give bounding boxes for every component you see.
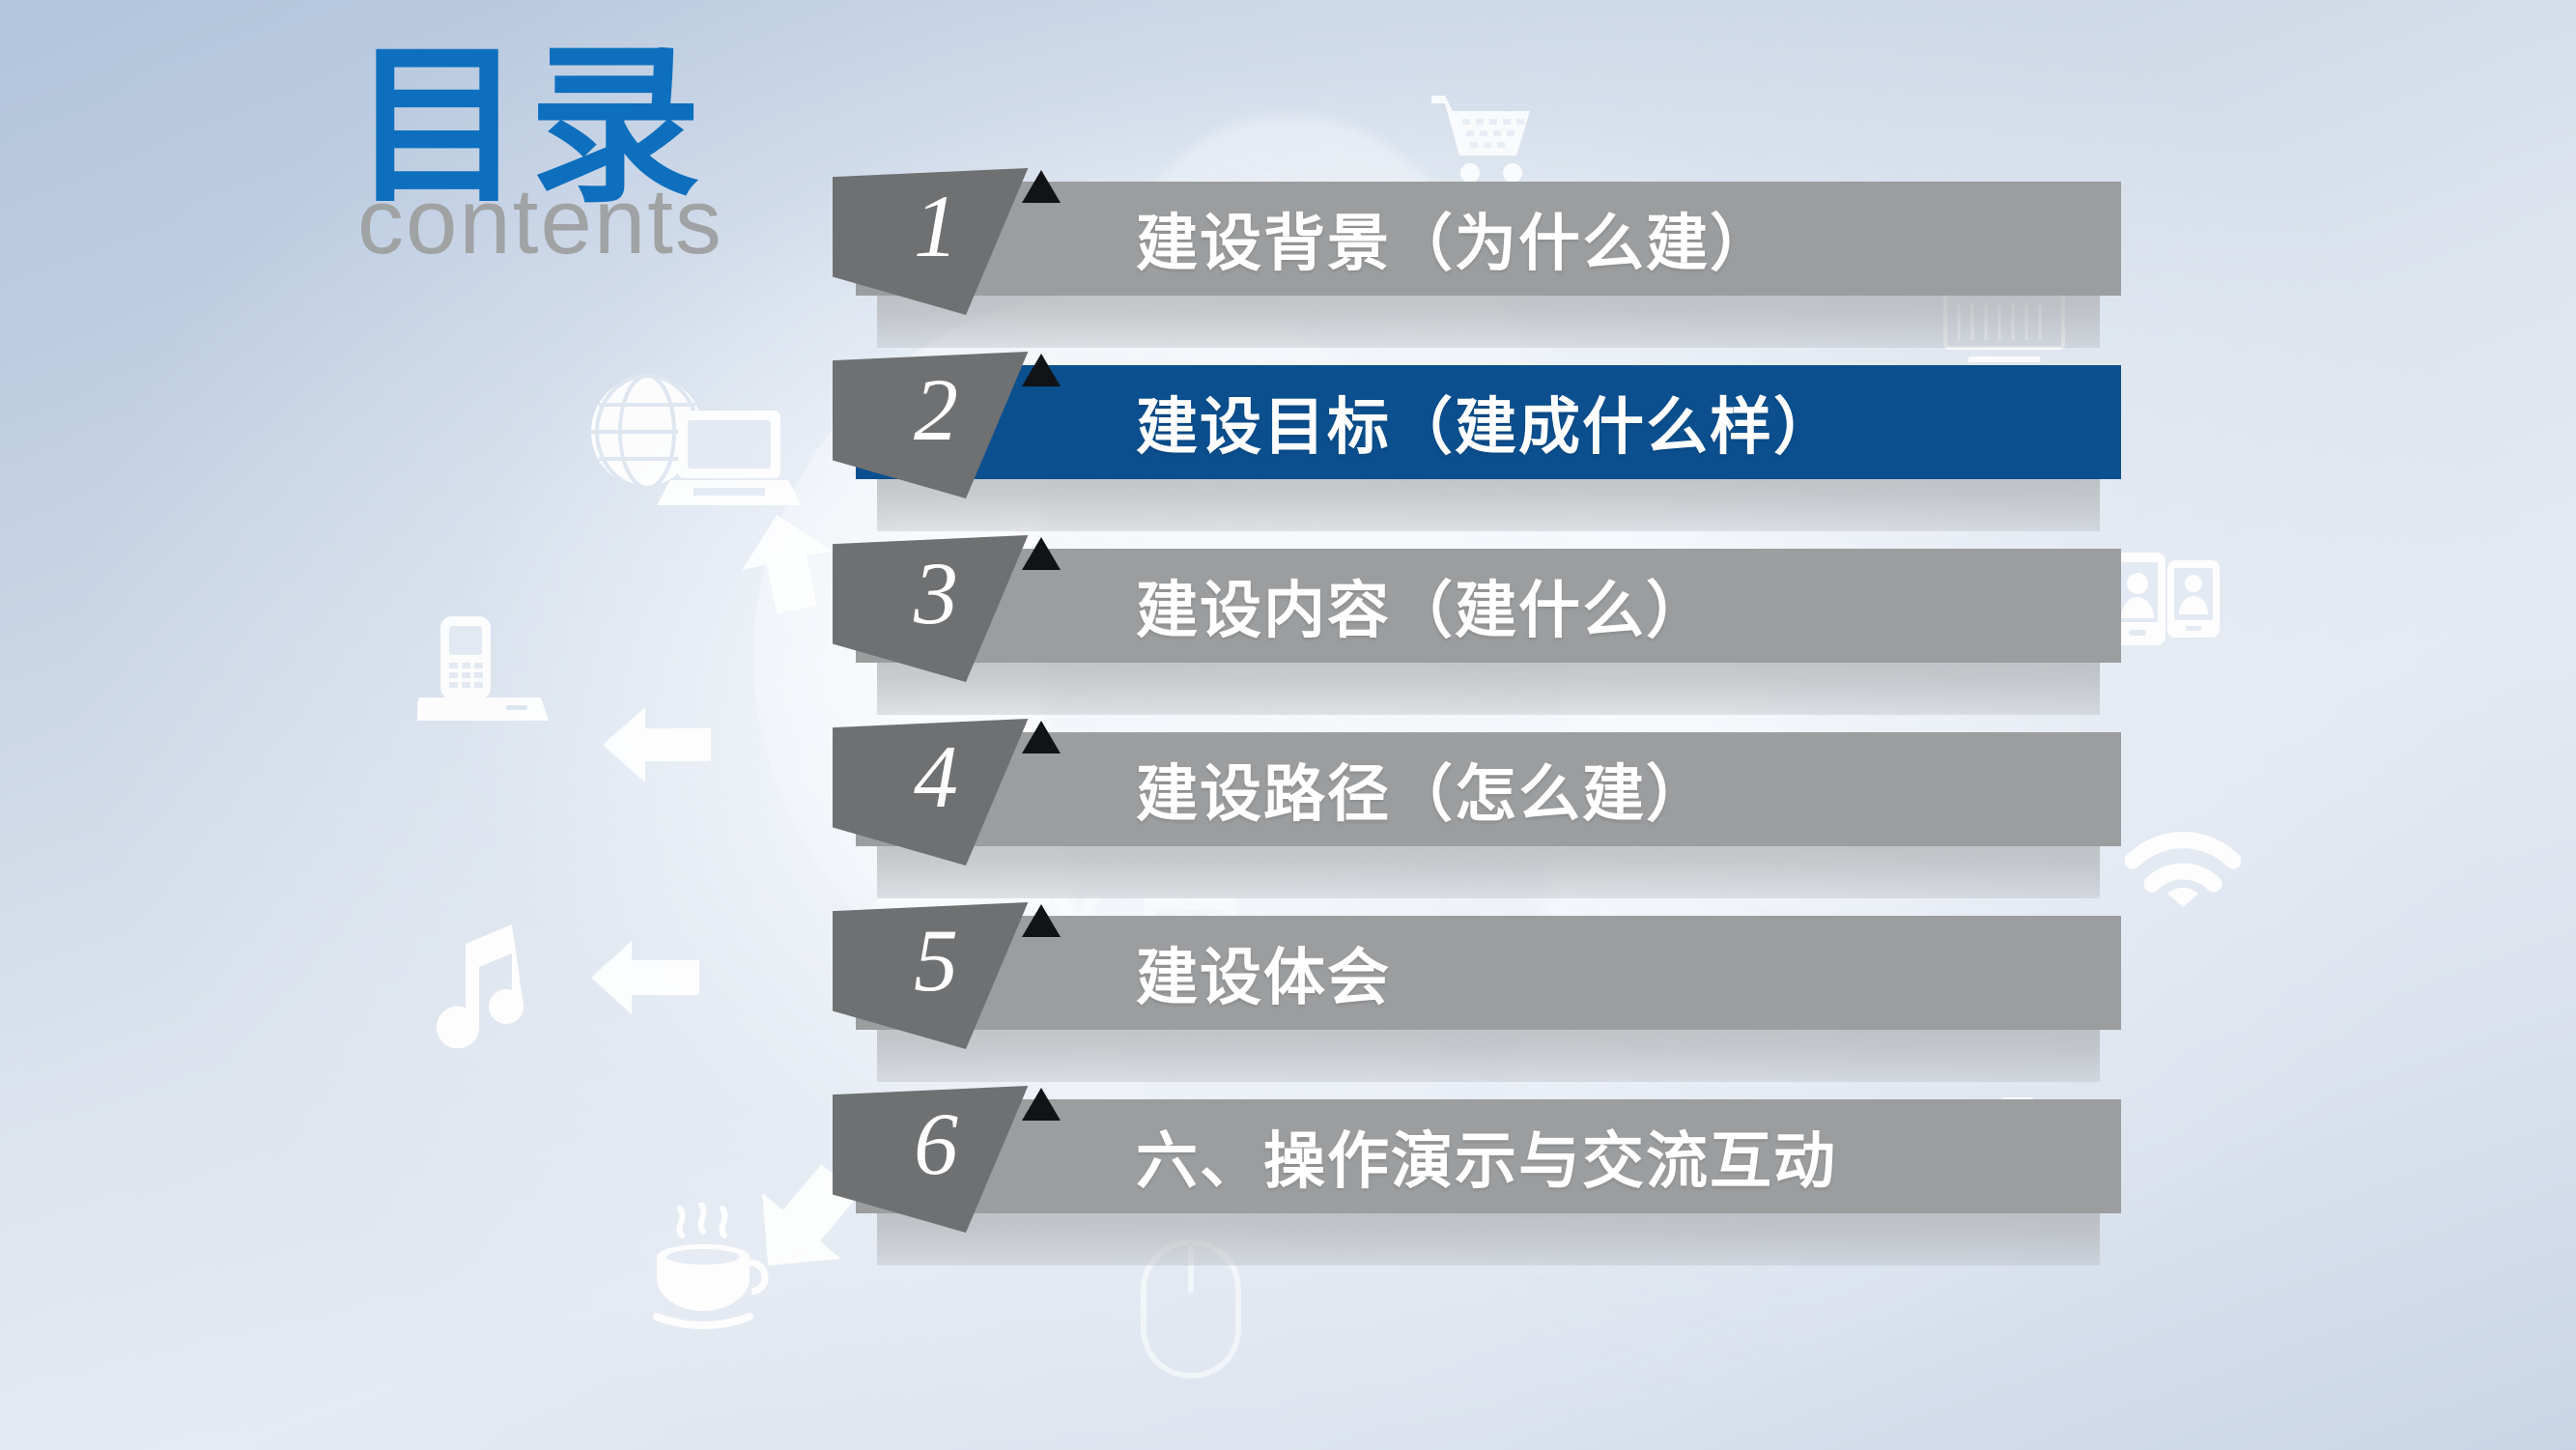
- contents-row[interactable]: 建设路径（怎么建）4: [856, 723, 2121, 906]
- contents-row-label: 建设路径（怎么建）: [1136, 745, 1710, 834]
- corner-triangle-icon: [1022, 170, 1061, 203]
- slide-canvas: 互联网 +: [0, 0, 2576, 1450]
- contents-row-number: 4: [914, 732, 958, 821]
- corner-triangle-icon: [1022, 1088, 1061, 1121]
- contents-row[interactable]: 建设体会5: [856, 906, 2121, 1090]
- coffee-cup-icon: [637, 1203, 773, 1338]
- corner-triangle-icon: [1022, 904, 1061, 937]
- music-note-icon: [423, 923, 529, 1048]
- contents-row-number: 2: [914, 365, 958, 454]
- corner-triangle-icon: [1022, 537, 1061, 570]
- wifi-icon: [2125, 826, 2241, 923]
- arrow-left-icon: [599, 701, 715, 788]
- contents-row-label: 建设内容（建什么）: [1136, 561, 1710, 650]
- contents-row-number: 1: [914, 182, 958, 270]
- contents-row-number: 6: [914, 1099, 958, 1188]
- corner-triangle-icon: [1022, 721, 1061, 753]
- page-title-block: 目录 contents: [340, 33, 842, 274]
- contents-row[interactable]: 建设背景（为什么建）1: [856, 172, 2121, 355]
- arrow-left-icon-2: [587, 935, 703, 1020]
- arrow-up-left-icon: [734, 510, 840, 616]
- contents-row[interactable]: 建设内容（建什么）3: [856, 539, 2121, 723]
- phone-contacts-icon: [2108, 551, 2223, 647]
- contents-list: 建设背景（为什么建）1建设目标（建成什么样）2建设内容（建什么）3建设路径（怎么…: [856, 172, 2121, 1273]
- contents-row-number: 3: [914, 549, 958, 638]
- contents-row-label: 建设目标（建成什么样）: [1136, 378, 1837, 467]
- contents-row[interactable]: 建设目标（建成什么样）2: [856, 355, 2121, 539]
- shopping-cart-icon: [1428, 92, 1534, 184]
- page-title-en: contents: [357, 176, 723, 269]
- cordless-phone-icon: [417, 616, 552, 723]
- contents-row-label: 建设体会: [1136, 928, 1391, 1017]
- globe-laptop-icon: [578, 372, 800, 526]
- corner-triangle-icon: [1022, 354, 1061, 386]
- contents-row-label: 建设背景（为什么建）: [1136, 194, 1773, 283]
- contents-row-number: 5: [914, 916, 958, 1005]
- contents-row[interactable]: 六、操作演示与交流互动6: [856, 1090, 2121, 1273]
- contents-row-label: 六、操作演示与交流互动: [1136, 1112, 1837, 1201]
